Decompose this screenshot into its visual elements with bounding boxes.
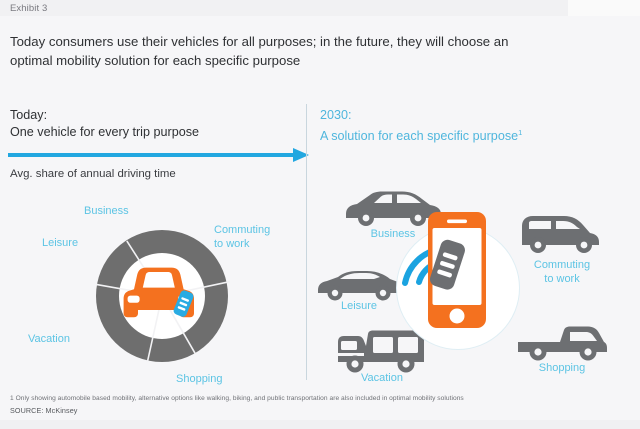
timeline-arrow (8, 148, 320, 162)
page-title: Today consumers use their vehicles for a… (10, 32, 610, 70)
left-column-subtitle: One vehicle for every trip purpose (10, 124, 199, 141)
exhibit-label: Exhibit 3 (10, 3, 47, 14)
microcar-icon (512, 212, 604, 254)
right-column-header: 2030: A solution for each specific purpo… (320, 107, 522, 145)
vehicle-label-commuting-l1: Commuting (534, 259, 590, 271)
headline-line-1: Today consumers use their vehicles for a… (10, 34, 508, 49)
vehicle-label-shopping: Shopping (514, 362, 610, 375)
donut-label-commuting-l2: to work (214, 238, 249, 250)
car-headlight-left (128, 296, 140, 303)
vehicle-label-leisure: Leisure (314, 300, 404, 313)
car-windshield (143, 272, 175, 288)
vehicle-label-commuting-l2: to work (544, 273, 579, 285)
footer-band (0, 420, 640, 429)
source-text: SOURCE: McKinsey (10, 406, 78, 415)
vehicle-label-commuting: Commuting to work (508, 258, 616, 286)
convertible-roadster-icon (314, 266, 404, 302)
donut-label-business: Business (84, 205, 129, 219)
orange-car-front-icon (118, 254, 206, 334)
header-band-highlight (568, 0, 640, 16)
camper-van-icon (334, 328, 430, 376)
pickup-truck-icon (514, 324, 610, 364)
chart-subcaption: Avg. share of annual driving time (10, 168, 176, 180)
future-mobility-diagram: Business Commuting to work (312, 182, 640, 394)
slide-canvas: Exhibit 3 Today consumers use their vehi… (0, 0, 640, 429)
header-band (0, 0, 640, 16)
left-column-header: Today: One vehicle for every trip purpos… (10, 107, 199, 141)
right-column-subtitle-text: A solution for each specific purpose (320, 129, 518, 143)
arrow-shaft (8, 153, 296, 157)
smartphone-icon (428, 212, 486, 328)
donut-label-commuting-l1: Commuting (214, 224, 270, 236)
footnote-marker: 1 (518, 128, 522, 137)
footnote-text: 1 Only showing automobile based mobility… (10, 394, 630, 404)
donut-label-shopping: Shopping (176, 373, 223, 387)
donut-label-commuting: Commuting to work (214, 224, 270, 251)
vehicle-label-vacation: Vacation (334, 372, 430, 385)
donut-label-vacation: Vacation (28, 333, 70, 347)
donut-label-leisure: Leisure (42, 237, 78, 251)
column-divider (306, 104, 307, 380)
right-column-title: 2030: (320, 107, 522, 124)
headline-line-2: optimal mobility solution for each speci… (10, 53, 300, 68)
phone-home-button (450, 309, 465, 324)
left-column-title: Today: (10, 107, 199, 124)
phone-speaker (447, 220, 467, 224)
right-column-subtitle: A solution for each specific purpose1 (320, 124, 522, 145)
